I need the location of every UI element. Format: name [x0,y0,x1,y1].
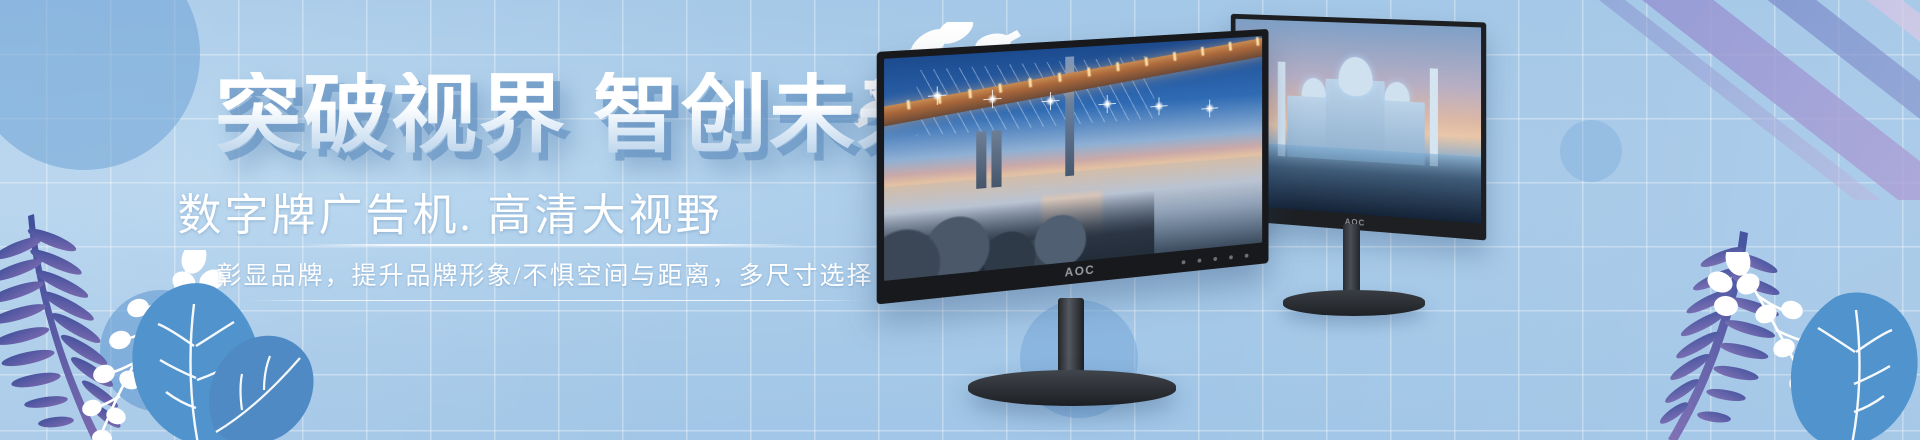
monitor-front-brand-label: AOC [1065,262,1095,279]
bridge-light-star-2 [988,93,998,104]
osd-button-power[interactable] [1245,254,1249,258]
osd-button-1[interactable] [1182,260,1186,264]
page-title: 突破视界智创未来 [215,72,945,158]
divider-lower [245,300,865,301]
monitor-front-panel: AOC [877,29,1269,305]
monitor-front-osd-buttons[interactable] [1182,254,1249,265]
bridge-light-star-1 [932,90,942,101]
divider-upper [300,244,800,246]
osd-button-2[interactable] [1198,258,1202,262]
bridge-light-star-3 [1046,96,1056,107]
monitor-front-screen [884,36,1262,281]
headline-part1: 突破视界 [215,67,567,163]
osd-button-3[interactable] [1213,257,1217,261]
bridge-light-star-4 [1103,98,1113,109]
bridge-pier-2 [992,130,1002,187]
monitor-front: AOC [880,40,1320,400]
monitor-front-stand-neck [1058,298,1084,380]
subtitle-text: 数字牌广告机. 高清大视野 [0,190,900,243]
bridge-light-star-5 [1154,101,1163,112]
copy-block: 突破视界智创未来 数字牌广告机. 高清大视野 [0,0,900,440]
product-group: AOC [880,0,1920,440]
bridge-pier-1 [976,131,986,189]
monitor-front-stand-base [968,370,1176,406]
monitor-back-stand-neck [1343,224,1360,298]
banner-root: 突破视界智创未来 数字牌广告机. 高清大视野 彰显品牌，提升品牌形象/不惧空间与… [0,0,1920,440]
osd-button-4[interactable] [1229,255,1233,259]
bridge-light-star-6 [1205,104,1214,114]
mosque-minaret-right [1430,68,1438,166]
